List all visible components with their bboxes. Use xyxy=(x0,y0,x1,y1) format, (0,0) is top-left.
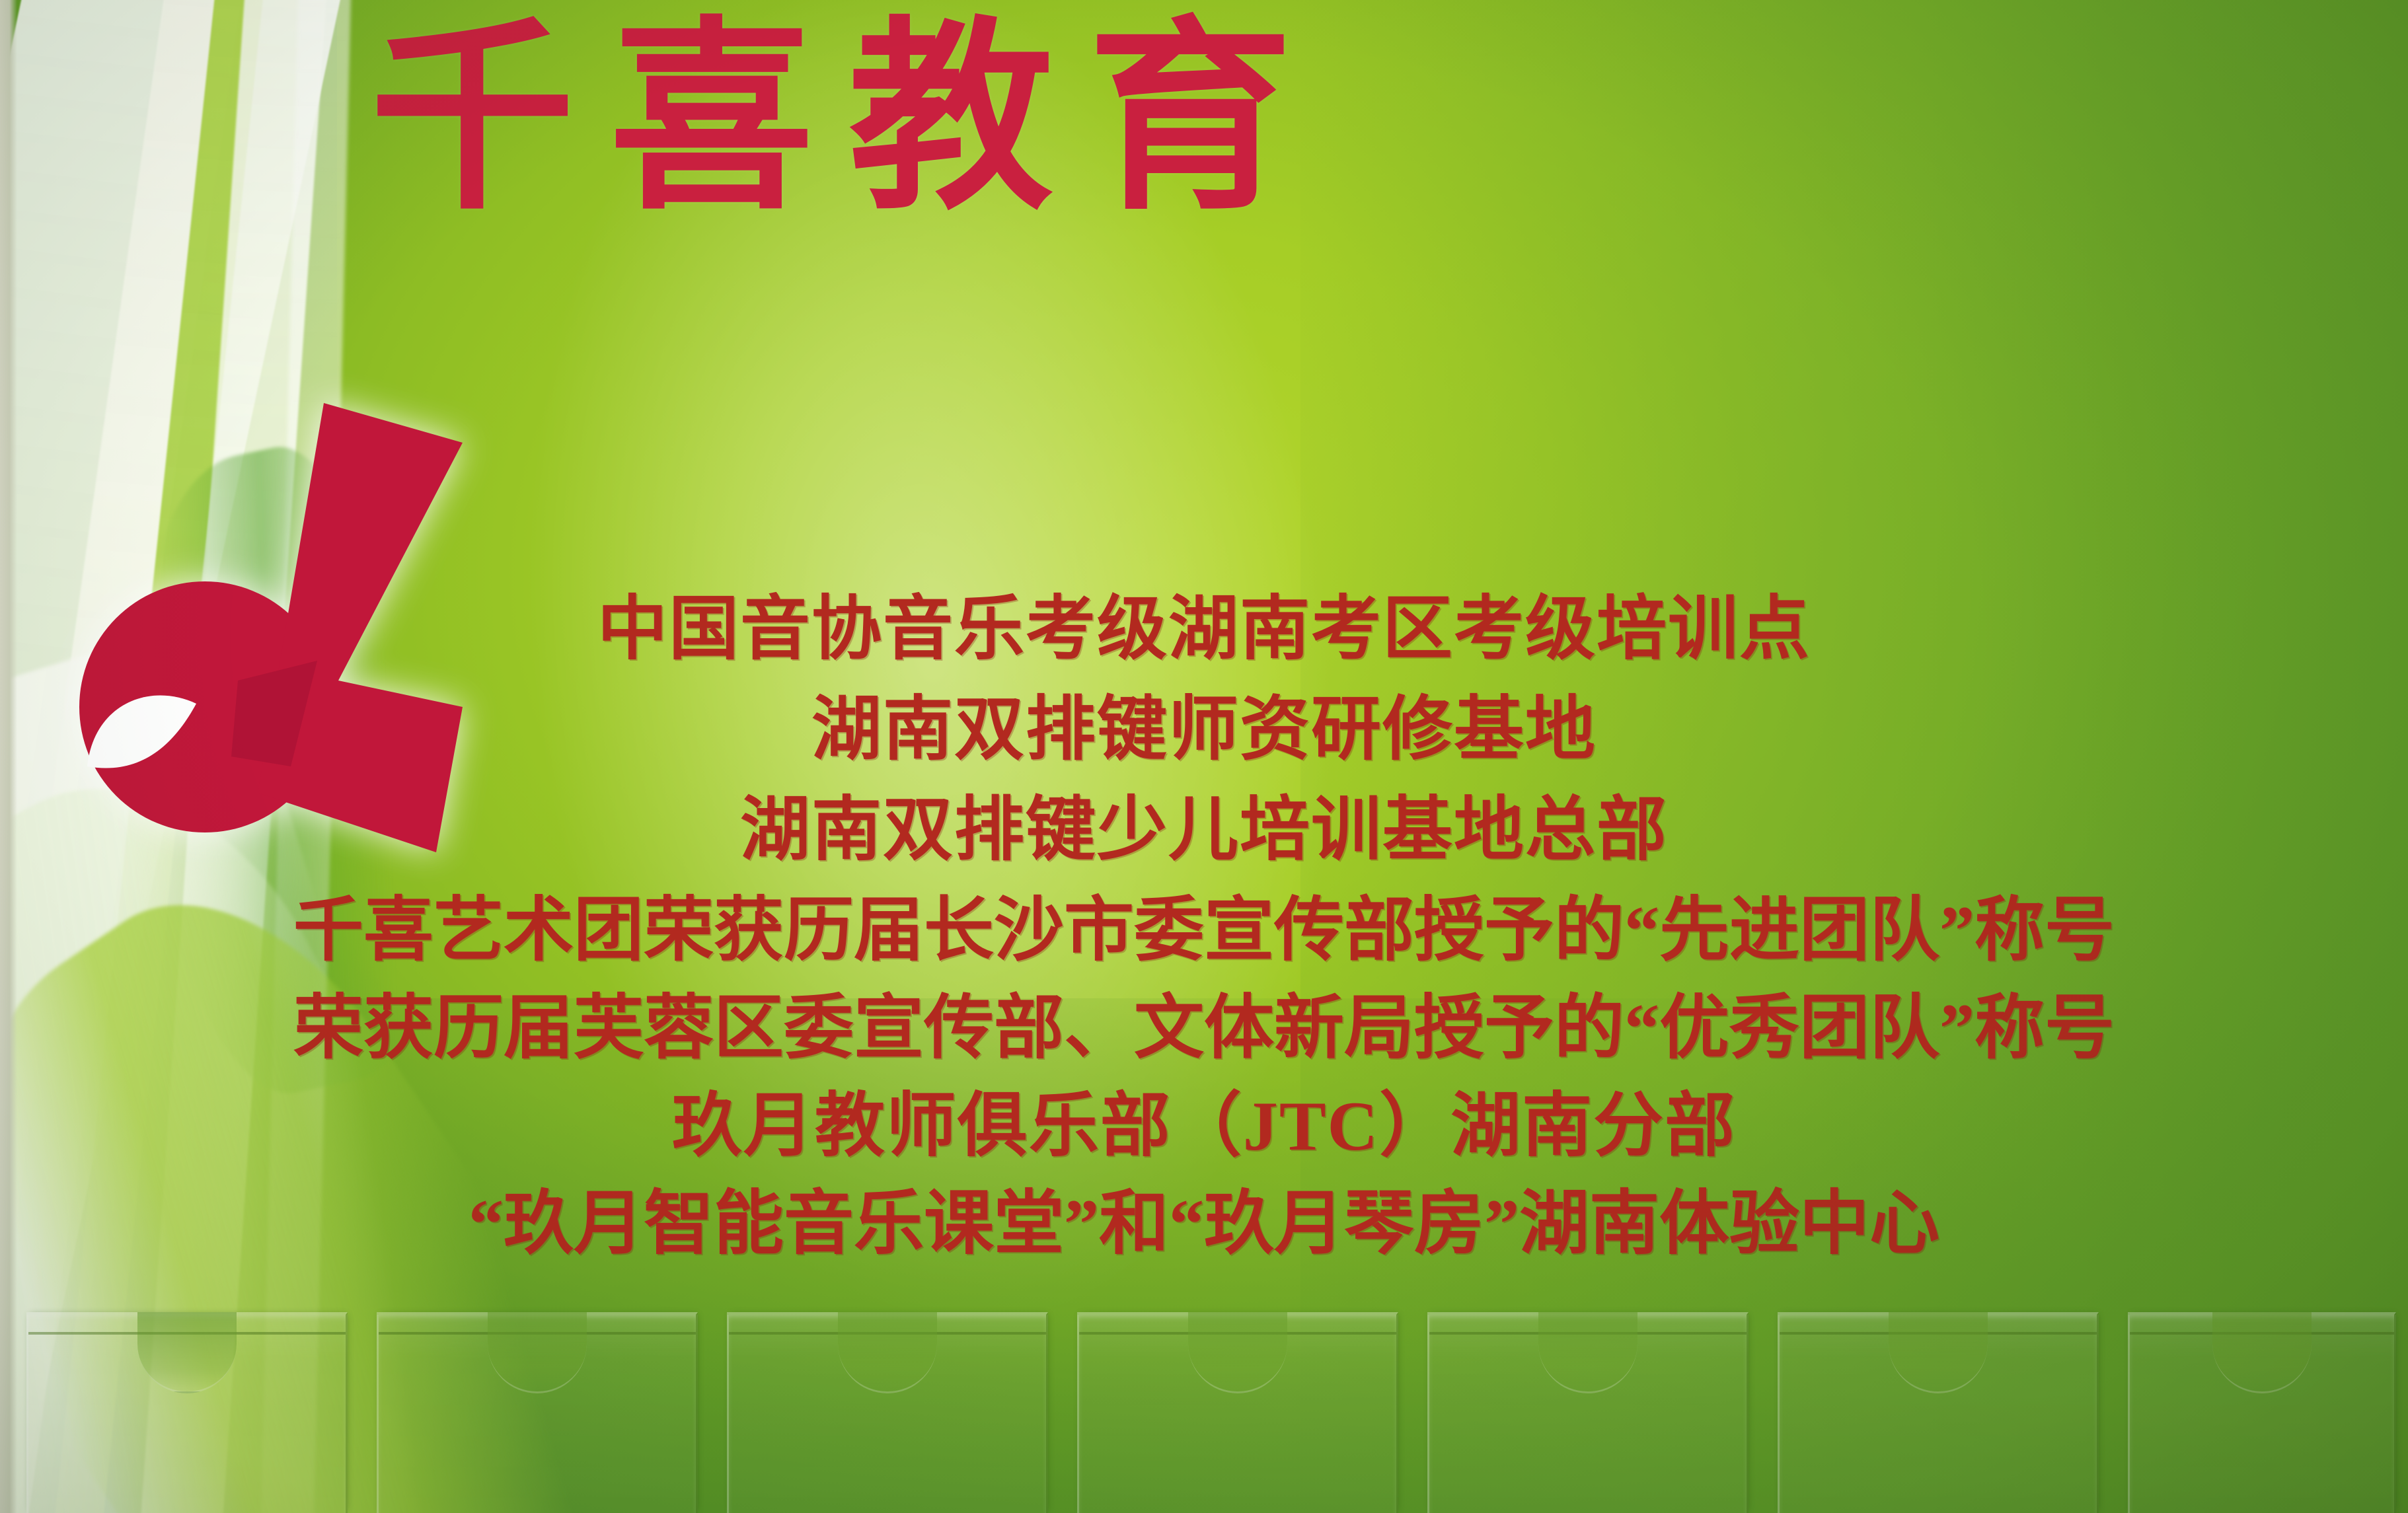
photo-vignette xyxy=(0,0,2408,1513)
signage-board: 千喜教育 中国音协音乐考级湖南考区考级培训点 湖南双排键师资研修基地 湖南双排键… xyxy=(0,0,2408,1513)
